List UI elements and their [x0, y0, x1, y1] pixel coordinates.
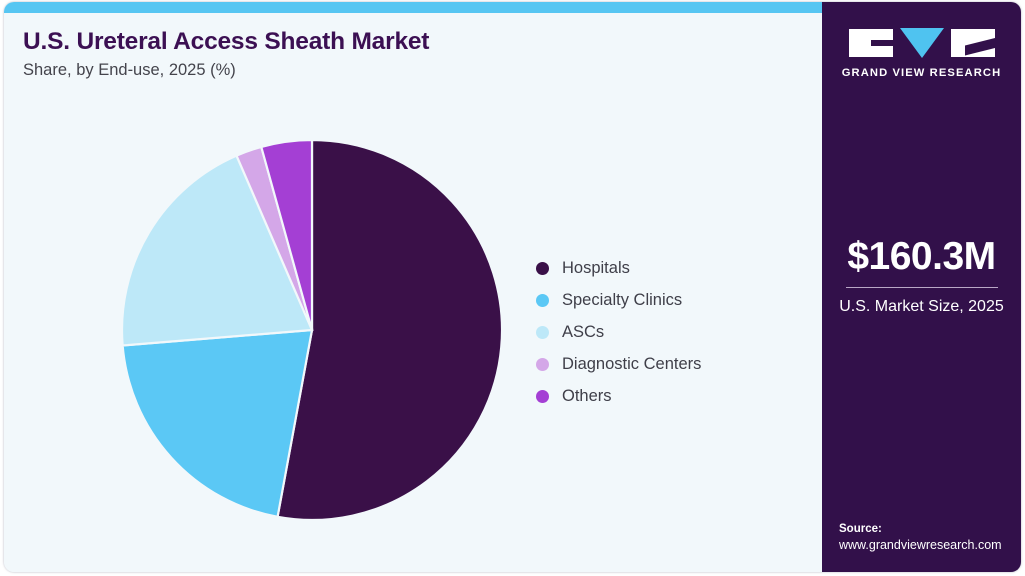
market-size-caption: U.S. Market Size, 2025 [822, 296, 1021, 317]
legend-item-label: ASCs [562, 323, 604, 342]
pie-slice[interactable] [123, 330, 312, 517]
pie-chart [116, 134, 508, 526]
gvr-logo: GRAND VIEW RESEARCH [822, 28, 1021, 79]
legend-color-swatch-icon [536, 390, 549, 403]
legend-item-label: Diagnostic Centers [562, 355, 701, 374]
logo-wordmark: GRAND VIEW RESEARCH [822, 67, 1021, 79]
legend-item[interactable]: Diagnostic Centers [536, 348, 701, 380]
letter-v-triangle-icon [900, 28, 944, 58]
infographic-card: U.S. Ureteral Access Sheath Market Share… [4, 2, 1021, 572]
infographic-root: U.S. Ureteral Access Sheath Market Share… [0, 0, 1025, 576]
source-url[interactable]: www.grandviewresearch.com [839, 538, 1021, 552]
legend-item[interactable]: ASCs [536, 316, 701, 348]
legend-color-swatch-icon [536, 294, 549, 307]
legend-item[interactable]: Hospitals [536, 252, 701, 284]
brand-panel: GRAND VIEW RESEARCH $160.3M U.S. Market … [822, 2, 1021, 572]
legend-item[interactable]: Others [536, 380, 701, 412]
legend-item-label: Hospitals [562, 259, 630, 278]
source-block: Source: www.grandviewresearch.com [839, 523, 1021, 552]
accent-bar [4, 2, 822, 13]
market-size-value: $160.3M [822, 234, 1021, 280]
pie-chart-svg [116, 134, 508, 526]
page-subtitle: Share, by End-use, 2025 (%) [23, 61, 236, 80]
legend-color-swatch-icon [536, 326, 549, 339]
legend-color-swatch-icon [536, 358, 549, 371]
page-title: U.S. Ureteral Access Sheath Market [23, 28, 429, 56]
legend-item[interactable]: Specialty Clinics [536, 284, 701, 316]
market-size-stat: $160.3M U.S. Market Size, 2025 [822, 234, 1021, 317]
source-label: Source: [839, 523, 1021, 535]
letter-r-icon [951, 29, 995, 57]
stat-divider [846, 287, 998, 288]
chart-pane: U.S. Ureteral Access Sheath Market Share… [4, 2, 822, 572]
chart-legend: HospitalsSpecialty ClinicsASCsDiagnostic… [536, 252, 701, 412]
letter-g-icon [849, 29, 893, 57]
legend-item-label: Others [562, 387, 612, 406]
logo-marks [822, 28, 1021, 58]
legend-item-label: Specialty Clinics [562, 291, 682, 310]
legend-color-swatch-icon [536, 262, 549, 275]
